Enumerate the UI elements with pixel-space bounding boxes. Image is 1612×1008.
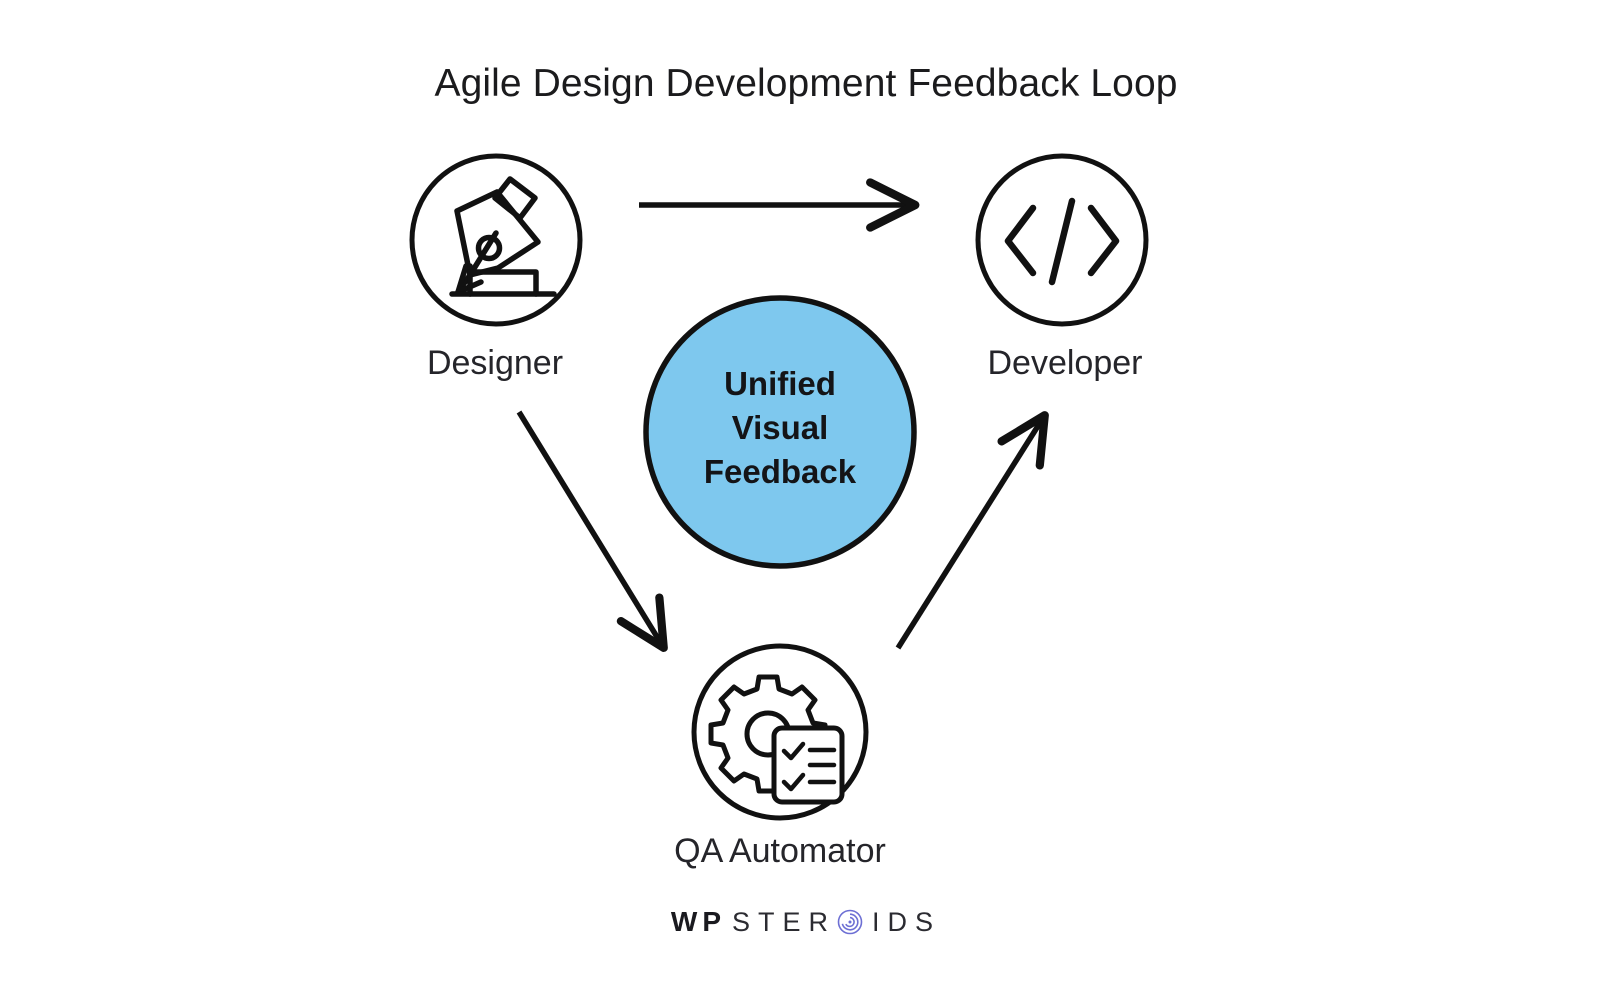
node-label-developer: Developer: [900, 344, 1230, 383]
node-designer[interactable]: [412, 156, 580, 324]
diagram-canvas: Agile Design Development Feedback Loop: [0, 0, 1612, 1008]
brand-logo: WP STER IDS: [0, 906, 1612, 938]
center-bubble[interactable]: [646, 298, 914, 566]
brand-wp-text: WP: [671, 906, 726, 938]
node-label-designer: Designer: [330, 344, 660, 383]
arrow-qa-to-developer: [898, 418, 1043, 648]
node-developer[interactable]: [978, 156, 1146, 324]
node-qa-automator[interactable]: [694, 646, 866, 818]
brand-ids-text: IDS: [872, 907, 941, 938]
spiral-target-icon: [837, 909, 863, 935]
node-label-qa-automator: QA Automator: [615, 832, 945, 871]
arrow-designer-to-qa: [519, 412, 662, 645]
brand-ster-text: STER: [732, 907, 836, 938]
unified-visual-feedback-circle: [646, 298, 914, 566]
